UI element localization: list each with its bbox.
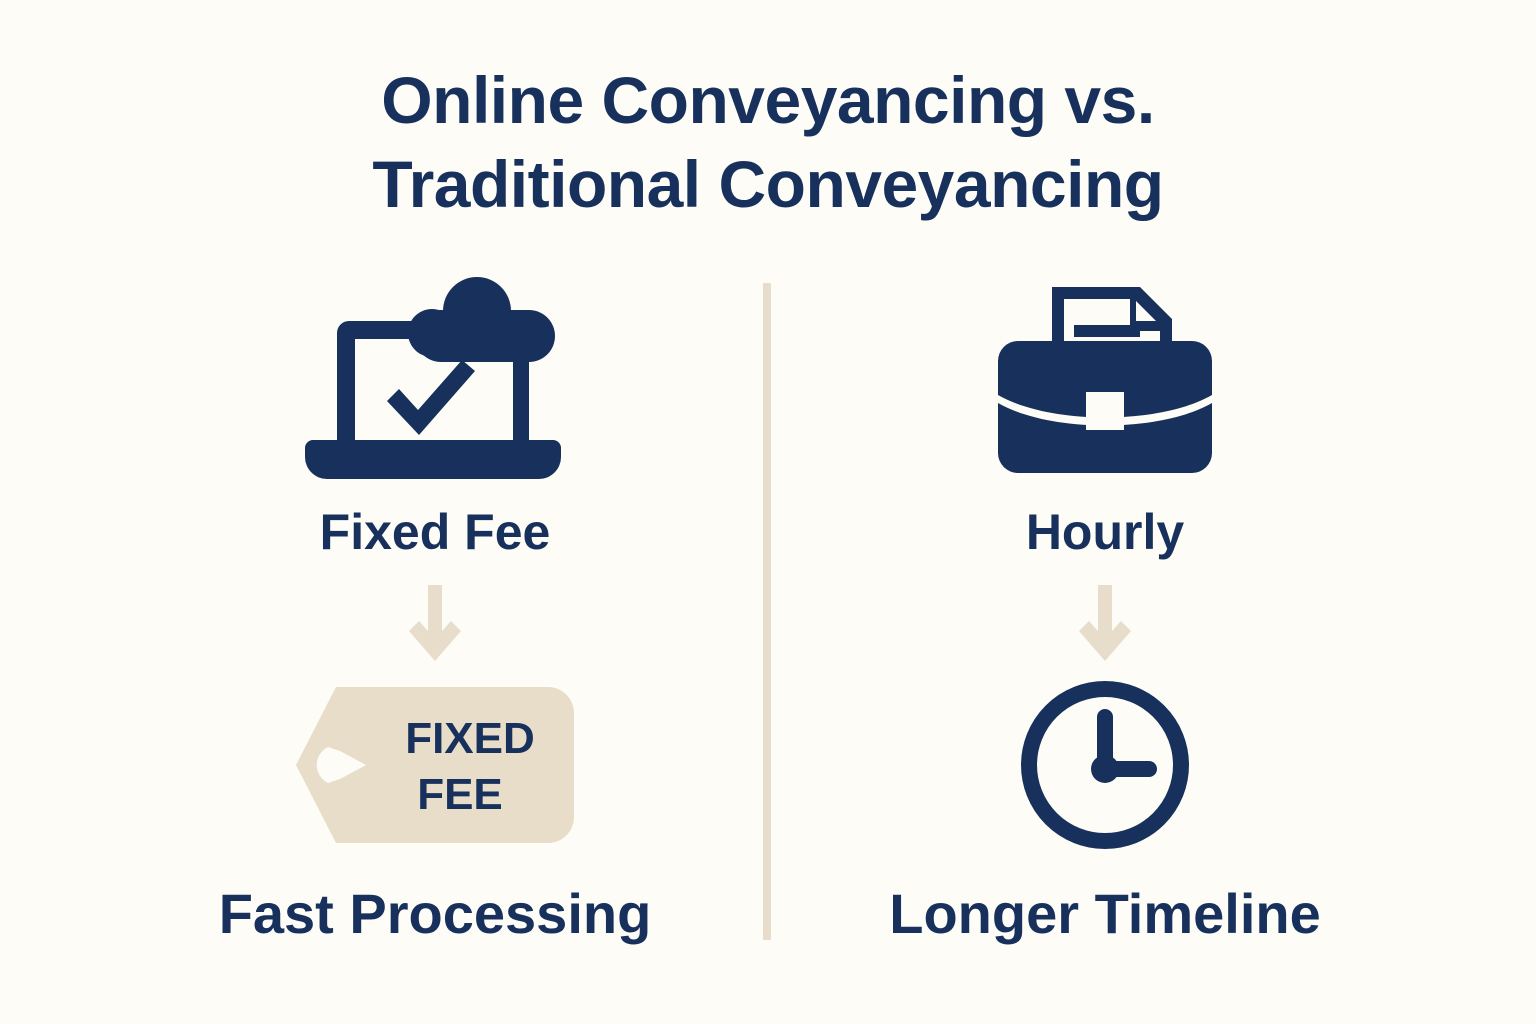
column-online-conveyancing: Fixed Fee FIXED FEE Fast Processing (85, 265, 785, 947)
down-arrow-icon (403, 585, 467, 665)
title-line-2: Traditional Conveyancing (0, 142, 1536, 226)
right-label: Hourly (1026, 503, 1184, 561)
column-traditional-conveyancing: Hourly Longer Timeline (755, 265, 1455, 947)
briefcase-document-icon (990, 275, 1220, 485)
tag-text-line-1: FIXED (405, 714, 535, 763)
laptop-cloud-check-icon (295, 275, 575, 485)
infographic-canvas: Online Conveyancing vs. Traditional Conv… (0, 0, 1536, 1024)
title-line-1: Online Conveyancing vs. (0, 58, 1536, 142)
price-tag-slot: FIXED FEE (290, 675, 580, 855)
briefcase-document-icon-slot (990, 265, 1220, 495)
clock-slot (1015, 675, 1195, 855)
tag-text-line-2: FEE (417, 770, 503, 819)
page-title: Online Conveyancing vs. Traditional Conv… (0, 58, 1536, 226)
left-footer: Fast Processing (219, 881, 652, 947)
right-footer: Longer Timeline (889, 881, 1320, 947)
down-arrow-icon (1073, 585, 1137, 665)
left-label: Fixed Fee (320, 503, 551, 561)
clock-icon (1015, 675, 1195, 855)
left-arrow-slot (403, 575, 467, 675)
price-tag-icon: FIXED FEE (290, 675, 580, 855)
right-arrow-slot (1073, 575, 1137, 675)
laptop-cloud-check-icon-slot (295, 265, 575, 495)
